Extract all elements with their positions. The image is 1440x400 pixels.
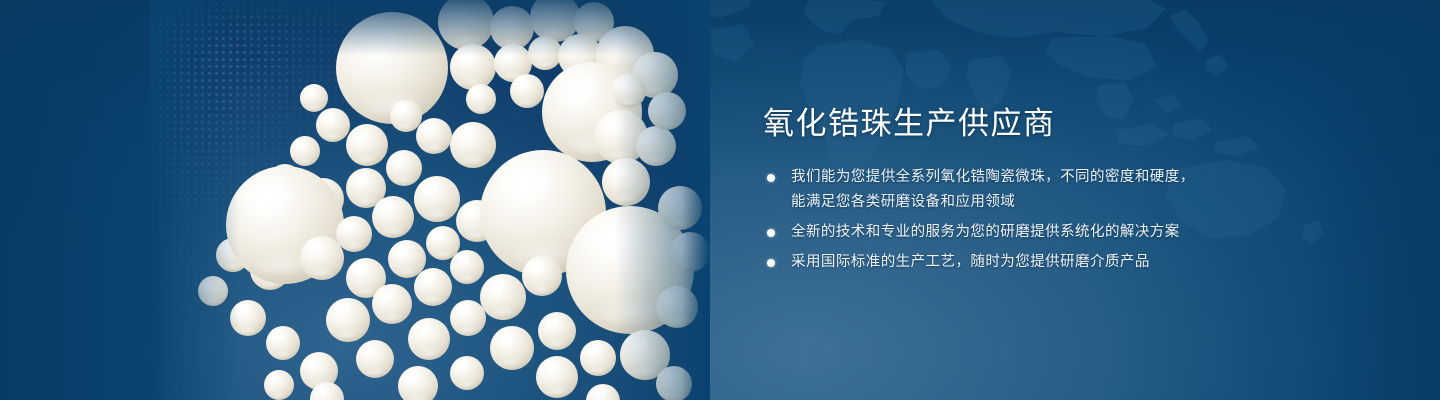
bullet-item: 我们能为您提供全系列氧化锆陶瓷微珠，不同的密度和硬度， 能满足您各类研磨设备和应…: [763, 165, 1363, 215]
banner-title: 氧化锆珠生产供应商: [763, 104, 1363, 144]
bullet-line: 采用国际标准的生产工艺，随时为您提供研磨介质产品: [791, 250, 1363, 275]
bullet-line: 我们能为您提供全系列氧化锆陶瓷微珠，不同的密度和硬度，: [791, 165, 1363, 190]
bullet-dot-icon: [767, 174, 775, 182]
bullet-item: 全新的技术和专业的服务为您的研磨提供系统化的解决方案: [763, 220, 1363, 245]
bullet-line: 全新的技术和专业的服务为您的研磨提供系统化的解决方案: [791, 220, 1363, 245]
banner-copy: 氧化锆珠生产供应商 我们能为您提供全系列氧化锆陶瓷微珠，不同的密度和硬度， 能满…: [763, 104, 1363, 275]
photo-edge-fade: [150, 0, 710, 400]
bullet-dot-icon: [767, 229, 775, 237]
bullet-item: 采用国际标准的生产工艺，随时为您提供研磨介质产品: [763, 250, 1363, 275]
zirconia-beads-photo: [150, 0, 710, 400]
banner-bullet-list: 我们能为您提供全系列氧化锆陶瓷微珠，不同的密度和硬度， 能满足您各类研磨设备和应…: [763, 165, 1363, 275]
bullet-line: 能满足您各类研磨设备和应用领域: [791, 190, 1363, 215]
bullet-dot-icon: [767, 259, 775, 267]
hero-banner: 氧化锆珠生产供应商 我们能为您提供全系列氧化锆陶瓷微珠，不同的密度和硬度， 能满…: [0, 0, 1440, 400]
